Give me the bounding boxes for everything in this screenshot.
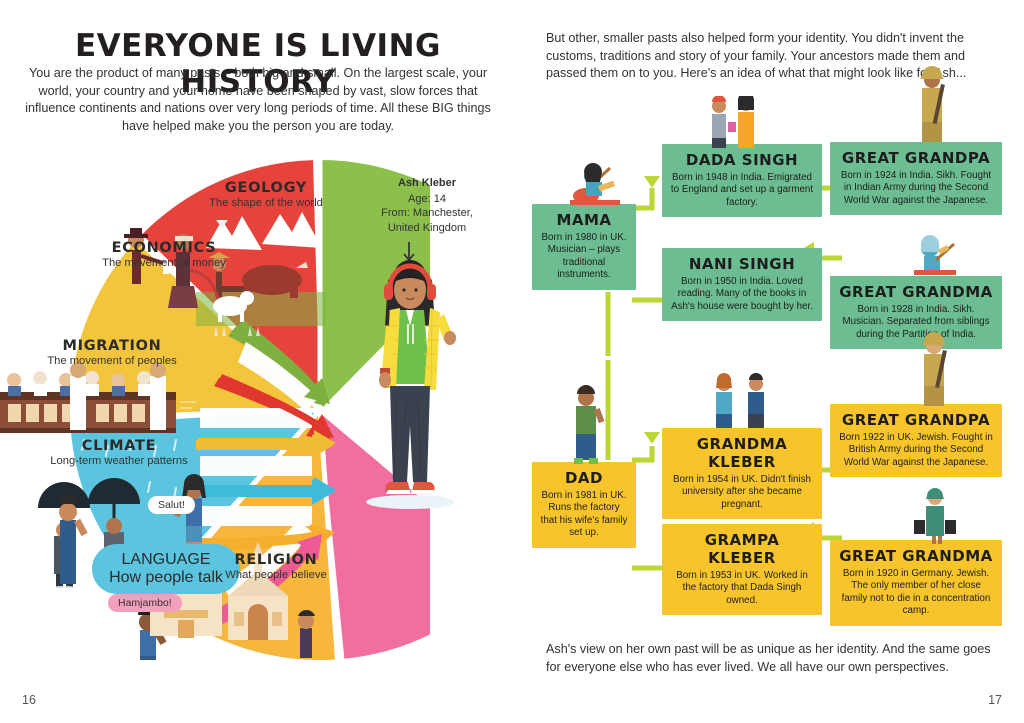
tree-node-nani-singh-body: Born in 1950 in India. Loved reading. Ma… bbox=[670, 276, 814, 313]
tree-node-nani-singh-title: NANI SINGH bbox=[670, 255, 814, 273]
character-name: Ash Kleber bbox=[372, 176, 482, 191]
fan-label-language-title: LANGUAGE bbox=[122, 551, 211, 568]
vignette-dad-figure bbox=[560, 380, 614, 464]
right-page: But other, smaller pasts also helped for… bbox=[512, 0, 1024, 723]
vignette-great-grandma-suitcases bbox=[908, 488, 962, 544]
tree-node-nani-singh[interactable]: NANI SINGH Born in 1950 in India. Loved … bbox=[662, 248, 822, 321]
character-from-line1: From: Manchester, bbox=[381, 207, 473, 219]
fan-label-language-subtitle: How people talk bbox=[109, 569, 223, 586]
tree-node-great-grandpa-singh-title: GREAT GRANDPA bbox=[838, 149, 994, 167]
tree-node-grampa-kleber[interactable]: GRAMPA KLEBER Born in 1953 in UK. Worked… bbox=[662, 524, 822, 615]
tree-node-grampa-kleber-body: Born in 1953 in UK. Worked in the factor… bbox=[670, 570, 814, 607]
family-tree: MAMA Born in 1980 in UK. Musician – play… bbox=[512, 0, 1024, 723]
vignette-singh-couple bbox=[704, 96, 768, 150]
fan-label-language[interactable]: LANGUAGE How people talk bbox=[92, 544, 240, 594]
vignette-great-grandma-musician bbox=[908, 226, 962, 280]
vignette-soldier-british bbox=[910, 330, 958, 408]
speech-bubble-salut: Salut! bbox=[148, 496, 195, 514]
tree-node-dad-body: Born in 1981 in UK. Runs the factory tha… bbox=[540, 490, 628, 540]
tree-node-great-grandma-kleber-title: GREAT GRANDMA bbox=[838, 547, 994, 565]
character-info: Ash Kleber Age: 14 From: Manchester, Uni… bbox=[372, 176, 482, 235]
tree-node-great-grandpa-kleber-body: Born 1922 in UK. Jewish. Fought in Briti… bbox=[838, 432, 994, 469]
page-number-right: 17 bbox=[988, 693, 1002, 707]
tree-node-grandma-kleber-title: GRANDMA KLEBER bbox=[670, 435, 814, 471]
tree-node-grandma-kleber-body: Born in 1954 in UK. Didn't finish univer… bbox=[670, 474, 814, 511]
tree-node-mama-body: Born in 1980 in UK. Musician – plays tra… bbox=[540, 232, 628, 282]
tree-node-mama-title: MAMA bbox=[540, 211, 628, 229]
tree-node-dad-title: DAD bbox=[540, 469, 628, 487]
tree-node-great-grandma-singh-title: GREAT GRANDMA bbox=[838, 283, 994, 301]
tree-node-grandma-kleber[interactable]: GRANDMA KLEBER Born in 1954 in UK. Didn'… bbox=[662, 428, 822, 519]
left-page: EVERYONE IS LIVING HISTORY You are the p… bbox=[0, 0, 512, 723]
tree-node-dada-singh-body: Born in 1948 in India. Emigrated to Engl… bbox=[670, 172, 814, 209]
vignette-kleber-couple bbox=[706, 372, 776, 430]
page-number-left: 16 bbox=[22, 693, 36, 707]
right-outro-paragraph: Ash's view on her own past will be as un… bbox=[546, 641, 1006, 676]
tree-node-grampa-kleber-title: GRAMPA KLEBER bbox=[670, 531, 814, 567]
character-from-line2: United Kingdom bbox=[388, 222, 466, 234]
tree-node-great-grandma-kleber-body: Born in 1920 in Germany. Jewish. The onl… bbox=[838, 568, 994, 618]
speech-bubble-hamjambo: Hamjambo! bbox=[108, 594, 182, 612]
tree-node-great-grandpa-singh-body: Born in 1924 in India. Sikh. Fought in I… bbox=[838, 170, 994, 207]
tree-node-dad[interactable]: DAD Born in 1981 in UK. Runs the factory… bbox=[532, 462, 636, 548]
intro-paragraph: You are the product of many pasts – both… bbox=[24, 65, 492, 135]
tree-node-dada-singh[interactable]: DADA SINGH Born in 1948 in India. Emigra… bbox=[662, 144, 822, 217]
vignette-mama-sitar bbox=[562, 152, 632, 208]
tree-node-great-grandma-kleber[interactable]: GREAT GRANDMA Born in 1920 in Germany. J… bbox=[830, 540, 1002, 626]
tree-node-great-grandpa-kleber-title: GREAT GRANDPA bbox=[838, 411, 994, 429]
tree-node-dada-singh-title: DADA SINGH bbox=[670, 151, 814, 169]
tree-node-great-grandpa-singh[interactable]: GREAT GRANDPA Born in 1924 in India. Sik… bbox=[830, 142, 1002, 215]
vignette-soldier-india bbox=[908, 62, 956, 144]
tree-node-great-grandpa-kleber[interactable]: GREAT GRANDPA Born 1922 in UK. Jewish. F… bbox=[830, 404, 1002, 477]
character-age: Age: 14 bbox=[408, 193, 446, 205]
tree-node-mama[interactable]: MAMA Born in 1980 in UK. Musician – play… bbox=[532, 204, 636, 290]
character-illustration-ash bbox=[350, 240, 470, 570]
